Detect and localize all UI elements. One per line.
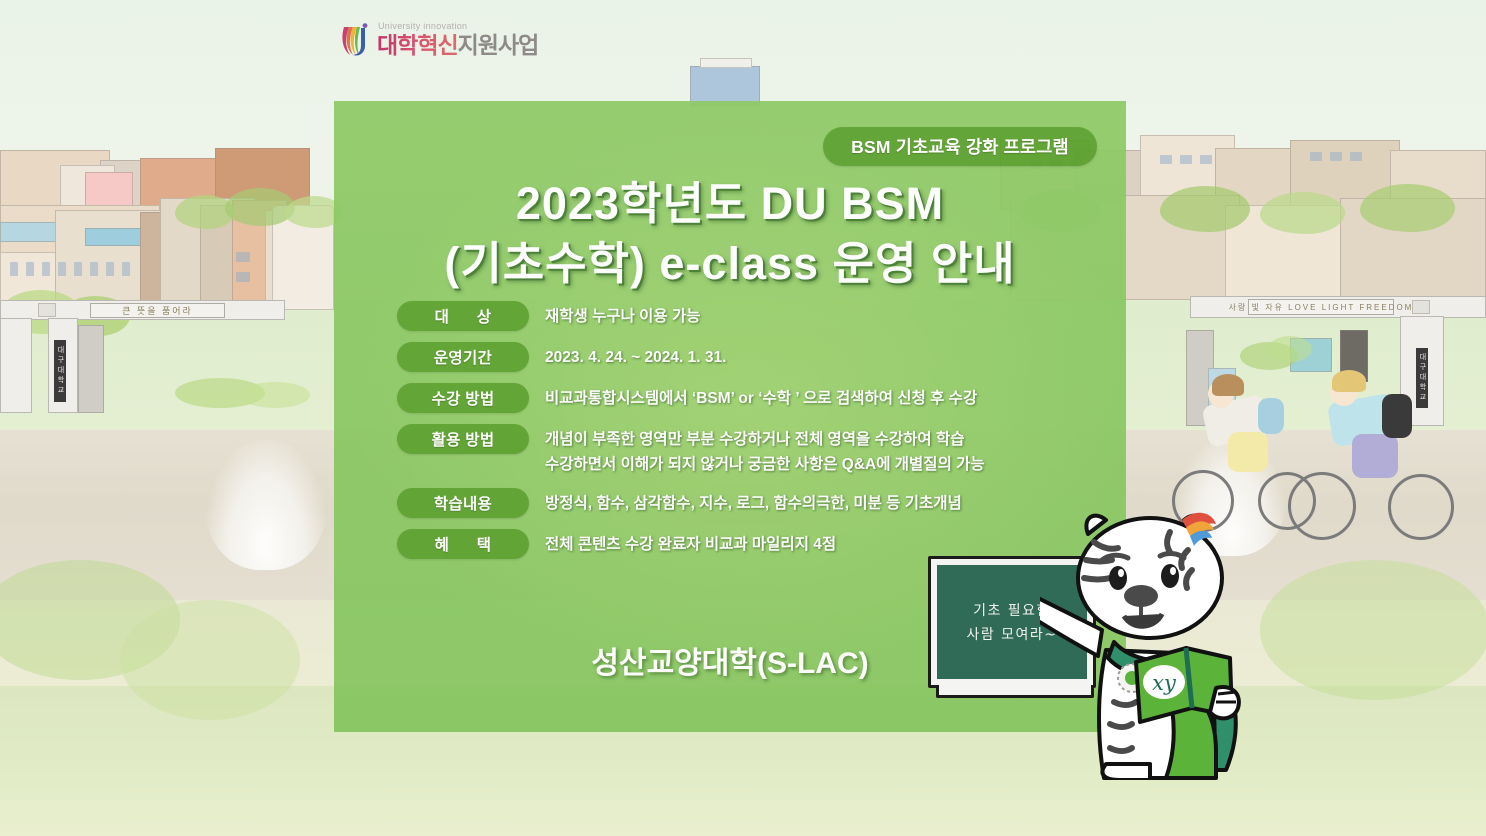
program-badge-label: BSM 기초교육 강화 프로그램 bbox=[851, 134, 1069, 159]
foreground-shrub bbox=[1260, 560, 1486, 700]
gate-sign-right: 사랑 빛 자유 LOVE LIGHT FREEDOM bbox=[1248, 299, 1394, 315]
cyclist-backpack bbox=[1382, 394, 1412, 438]
window bbox=[1330, 152, 1342, 161]
window bbox=[1310, 152, 1322, 161]
window bbox=[26, 262, 34, 276]
book-label: xy bbox=[1152, 671, 1177, 695]
info-row-value-line-1: 전체 콘텐츠 수강 완료자 비교과 마일리지 4점 bbox=[545, 532, 836, 557]
fountain-spray bbox=[206, 440, 326, 570]
tree bbox=[1360, 184, 1455, 232]
building-block bbox=[700, 58, 752, 68]
bush bbox=[1268, 336, 1312, 362]
logo-title: 대학혁신지원사업 bbox=[377, 34, 538, 57]
tree bbox=[1260, 192, 1345, 234]
cyclist-legs bbox=[1228, 432, 1268, 472]
info-row-value-line-1: 비교과통합시스템에서 ‘BSM’ or ‘수학 ’ 으로 검색하여 신청 후 수… bbox=[545, 386, 977, 411]
cyclist-legs bbox=[1352, 434, 1398, 478]
gate-sign-left: 큰 뜻을 품어라 bbox=[90, 303, 225, 318]
gate-sign-right-text: 사랑 빛 자유 LOVE LIGHT FREEDOM bbox=[1229, 302, 1414, 313]
logo-title-accent: 대학혁신 bbox=[377, 34, 458, 57]
info-row-value: 개념이 부족한 영역만 부분 수강하거나 전체 영역을 수강하여 학습 수강하면… bbox=[545, 424, 985, 477]
info-row: 혜 택 전체 콘텐츠 수강 완료자 비교과 마일리지 4점 bbox=[397, 529, 1097, 559]
logo-title-rest: 지원사업 bbox=[458, 34, 539, 57]
building-block bbox=[690, 66, 760, 106]
info-row-label: 대 상 bbox=[397, 301, 529, 331]
gate-pillar-left bbox=[0, 318, 32, 413]
info-row: 운영기간 2023. 4. 24. ~ 2024. 1. 31. bbox=[397, 342, 1097, 372]
logo-subtitle: University innovation bbox=[378, 22, 538, 31]
info-row-label: 운영기간 bbox=[397, 342, 529, 372]
window bbox=[106, 262, 114, 276]
info-row-label: 수강 방법 bbox=[397, 383, 529, 413]
info-row-value: 전체 콘텐츠 수강 완료자 비교과 마일리지 4점 bbox=[545, 529, 836, 557]
logo-text: University innovation 대학혁신지원사업 bbox=[377, 22, 538, 59]
window bbox=[1180, 155, 1192, 164]
info-row-value-line-2: 수강하면서 이해가 되지 않거나 궁금한 사항은 Q&A에 개별질의 가능 bbox=[545, 452, 985, 477]
window bbox=[58, 262, 66, 276]
info-row-value: 방정식, 함수, 삼각함수, 지수, 로그, 함수의극한, 미분 등 기초개념 bbox=[545, 488, 962, 516]
info-row-value-line-1: 개념이 부족한 영역만 부분 수강하거나 전체 영역을 수강하여 학습 bbox=[545, 427, 985, 452]
window bbox=[236, 272, 250, 282]
tree bbox=[1160, 186, 1250, 232]
cyclist-hair bbox=[1332, 370, 1366, 392]
info-row: 대 상 재학생 누구나 이용 가능 bbox=[397, 301, 1097, 331]
window bbox=[1350, 152, 1362, 161]
gate-banner-right: 대구대학교 bbox=[1416, 348, 1428, 408]
info-row-label: 혜 택 bbox=[397, 529, 529, 559]
info-row: 수강 방법 비교과통합시스템에서 ‘BSM’ or ‘수학 ’ 으로 검색하여 … bbox=[397, 383, 1097, 413]
logo-mark-icon bbox=[340, 23, 370, 59]
window bbox=[90, 262, 98, 276]
window bbox=[42, 262, 50, 276]
gate-banner-left: 대구대학교 bbox=[54, 340, 66, 402]
info-row-value-line-1: 2023. 4. 24. ~ 2024. 1. 31. bbox=[545, 345, 726, 370]
gate-banner-right-text: 대구대학교 bbox=[1417, 353, 1427, 403]
window bbox=[236, 252, 250, 262]
cyclist-hair bbox=[1212, 374, 1244, 396]
window bbox=[122, 262, 130, 276]
foreground-shrub bbox=[120, 600, 300, 720]
tree bbox=[225, 188, 295, 226]
page-title-line-2: (기초수학) e-class 운영 안내 bbox=[334, 234, 1126, 294]
gate-small-icon-right bbox=[1412, 300, 1430, 314]
info-row: 활용 방법 개념이 부족한 영역만 부분 수강하거나 전체 영역을 수강하여 학… bbox=[397, 424, 1097, 477]
page-title: 2023학년도 DU BSM (기초수학) e-class 운영 안내 bbox=[334, 174, 1126, 294]
info-table: 대 상 재학생 누구나 이용 가능 운영기간 2023. 4. 24. ~ 20… bbox=[397, 301, 1097, 570]
info-row-value-line-1: 재학생 누구나 이용 가능 bbox=[545, 304, 701, 329]
tiger-mascot: xy bbox=[1040, 512, 1275, 780]
bush bbox=[240, 382, 310, 408]
poster-screenshot: 큰 뜻을 품어라 대구대학교 사랑 빛 자유 LOVE LIGHT FREEDO… bbox=[0, 0, 1486, 836]
info-row-value-line-1: 방정식, 함수, 삼각함수, 지수, 로그, 함수의극한, 미분 등 기초개념 bbox=[545, 491, 962, 516]
gate-booth-left bbox=[78, 325, 104, 413]
gate-banner-left-text: 대구대학교 bbox=[55, 346, 65, 396]
info-row: 학습내용 방정식, 함수, 삼각함수, 지수, 로그, 함수의극한, 미분 등 … bbox=[397, 488, 1097, 518]
bicycle-wheel bbox=[1388, 474, 1454, 540]
window bbox=[1200, 155, 1212, 164]
info-row-value: 2023. 4. 24. ~ 2024. 1. 31. bbox=[545, 342, 726, 370]
window bbox=[10, 262, 18, 276]
gate-sign-left-text: 큰 뜻을 품어라 bbox=[122, 304, 193, 317]
info-row-value: 비교과통합시스템에서 ‘BSM’ or ‘수학 ’ 으로 검색하여 신청 후 수… bbox=[545, 383, 977, 411]
window bbox=[74, 262, 82, 276]
info-row-label: 활용 방법 bbox=[397, 424, 529, 454]
info-row-label: 학습내용 bbox=[397, 488, 529, 518]
info-row-value: 재학생 누구나 이용 가능 bbox=[545, 301, 701, 329]
gate-small-icon-left bbox=[38, 303, 56, 317]
university-innovation-logo: University innovation 대학혁신지원사업 bbox=[340, 22, 538, 59]
page-title-line-1: 2023학년도 DU BSM bbox=[334, 174, 1126, 234]
window bbox=[1160, 155, 1172, 164]
program-badge: BSM 기초교육 강화 프로그램 bbox=[823, 127, 1097, 166]
cyclist-backpack bbox=[1258, 398, 1284, 434]
bicycle-wheel bbox=[1288, 472, 1356, 540]
